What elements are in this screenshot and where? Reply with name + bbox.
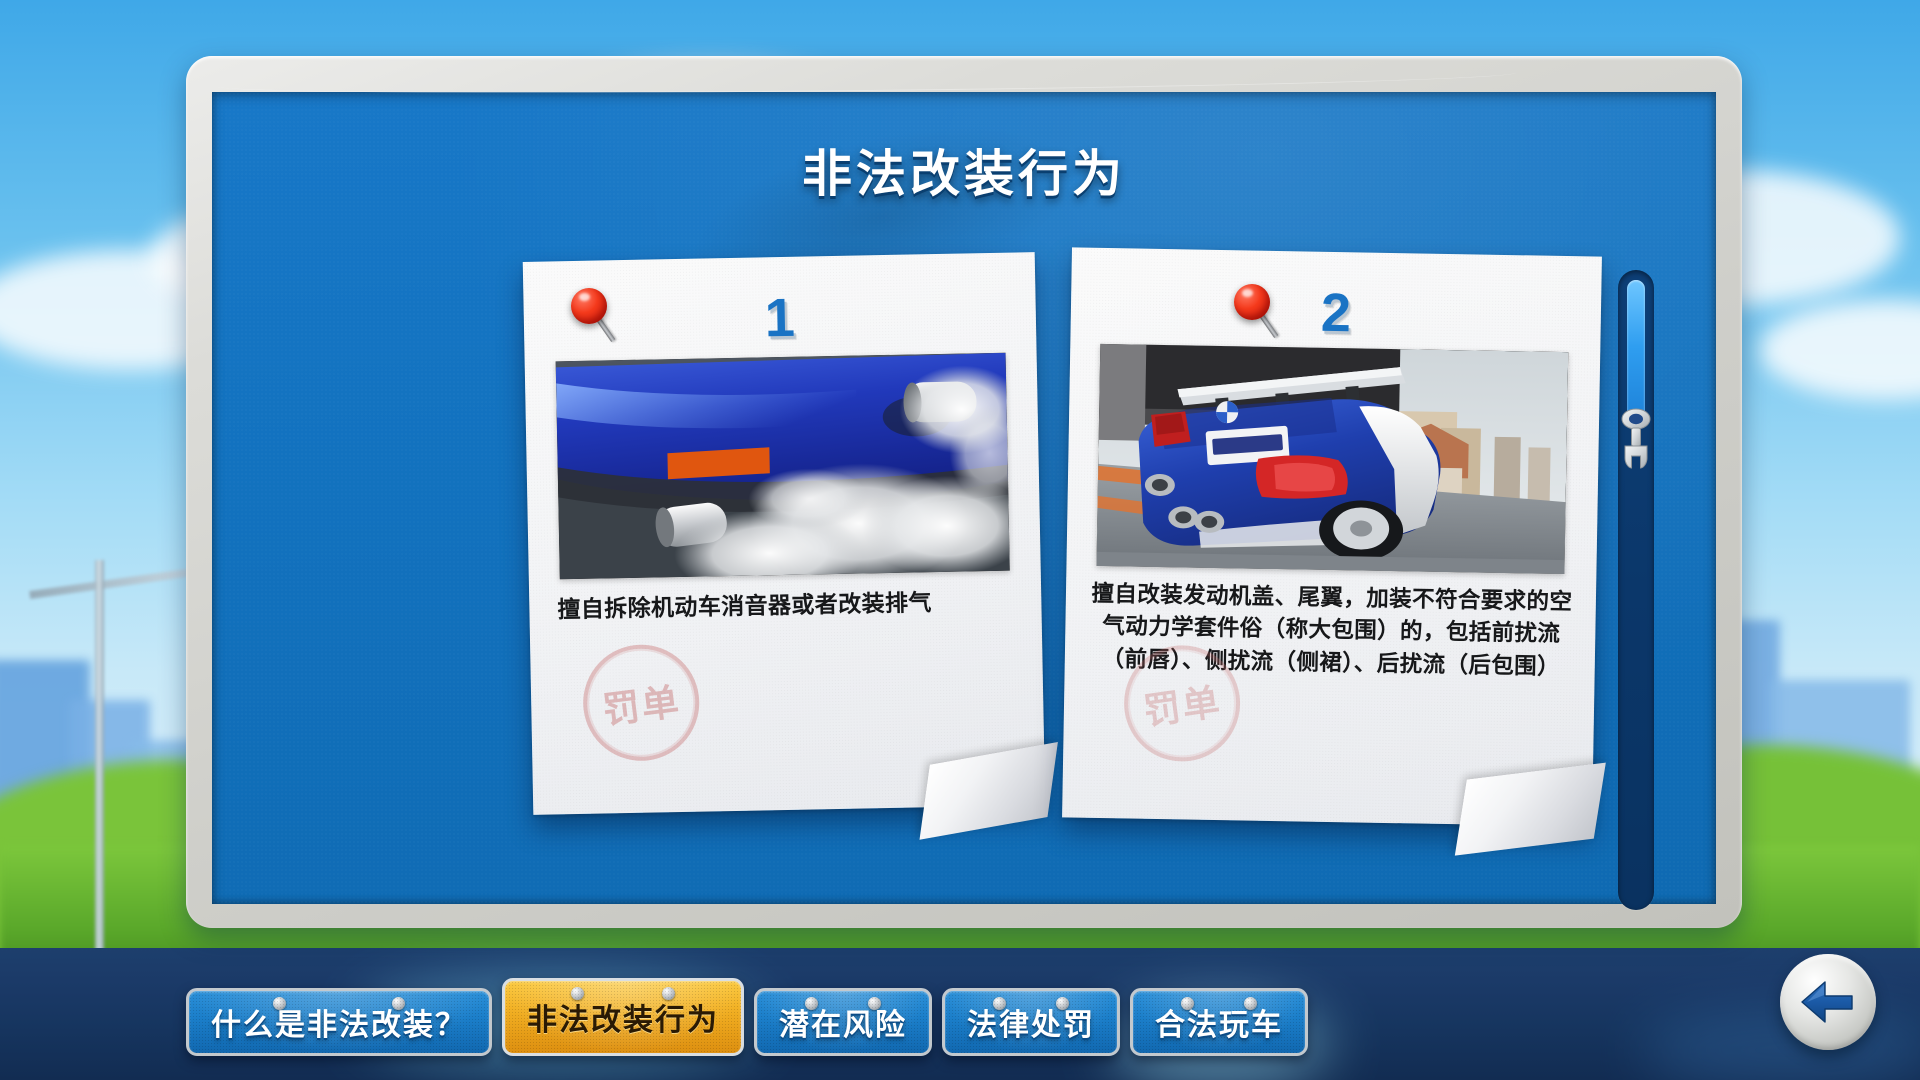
tab-label: 什么是非法改装？ xyxy=(211,1000,467,1044)
tab-label: 法律处罚 xyxy=(967,1000,1095,1044)
page-title: 非法改装行为 xyxy=(212,134,1716,206)
tab-bar: 什么是非法改装？ 非法改装行为 潜在风险 法律处罚 合法玩车 xyxy=(186,966,1742,1056)
content-panel: 非法改装行为 1 xyxy=(186,56,1742,928)
modified-bmw-photo-icon xyxy=(1096,344,1568,574)
tab-label: 合法玩车 xyxy=(1155,1000,1283,1044)
fine-stamp: 罚单 xyxy=(576,638,705,767)
tab-illegal-modification-behavior[interactable]: 非法改装行为 xyxy=(502,978,744,1056)
paper-curl xyxy=(1455,763,1606,856)
tab-label: 非法改装行为 xyxy=(527,995,719,1039)
vertical-scrollbar[interactable] xyxy=(1618,270,1654,910)
card-caption: 擅自拆除机动车消音器或者改装排气 xyxy=(557,584,1020,626)
info-card[interactable]: 2 xyxy=(1062,247,1602,826)
blue-board: 非法改装行为 1 xyxy=(212,92,1716,904)
card-photo xyxy=(556,353,1010,580)
card-photo xyxy=(1096,344,1568,574)
pushpin-head xyxy=(1234,284,1270,320)
tab-label: 潜在风险 xyxy=(779,1000,907,1044)
arrow-left-icon xyxy=(1798,979,1858,1025)
back-button[interactable] xyxy=(1780,954,1876,1050)
tab-what-is-illegal-modification[interactable]: 什么是非法改装？ xyxy=(186,988,492,1056)
paper-curl xyxy=(920,742,1058,840)
card-number: 2 xyxy=(1070,281,1601,344)
pushpin-icon xyxy=(571,288,625,348)
tab-potential-risks[interactable]: 潜在风险 xyxy=(754,988,932,1056)
exhaust-smoke-photo-icon xyxy=(556,353,1010,580)
tab-legal-penalties[interactable]: 法律处罚 xyxy=(942,988,1120,1056)
street-lamp-pole xyxy=(95,560,104,990)
tab-legal-car-play[interactable]: 合法玩车 xyxy=(1130,988,1308,1056)
pushpin-icon xyxy=(1234,284,1288,344)
pushpin-head xyxy=(571,288,607,324)
wrench-glyph xyxy=(1612,406,1660,472)
wrench-icon[interactable] xyxy=(1612,406,1660,472)
